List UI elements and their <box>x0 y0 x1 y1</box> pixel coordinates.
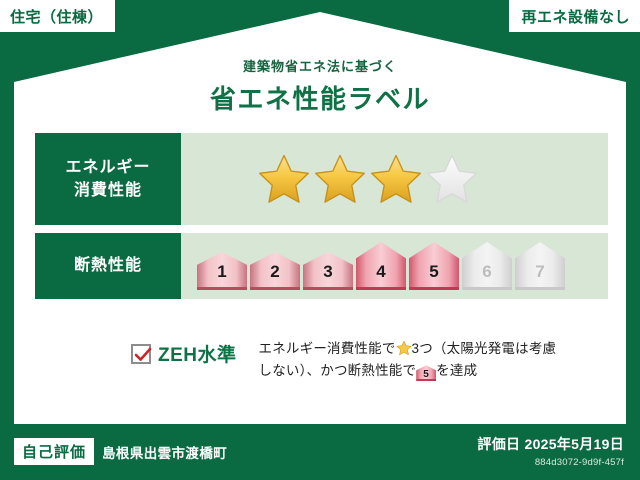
insulation-level-4-value: 4 <box>356 242 406 290</box>
energy-label-card: 住宅（住棟） 再エネ設備なし 建築物省エネ法に基づく 省エネ性能ラベル エネルギ… <box>0 0 640 480</box>
zeh-desc-part1: エネルギー消費性能で <box>259 341 396 356</box>
evaluation-type-badge: 自己評価 <box>14 438 94 465</box>
star-icon-empty-4 <box>425 153 479 205</box>
star-rating <box>181 153 479 205</box>
insulation-level-2-value: 2 <box>250 252 300 290</box>
title-subtitle: 建築物省エネ法に基づく <box>0 56 640 75</box>
evaluation-date: 評価日 2025年5月19日 <box>477 434 624 454</box>
footer-right-group: 評価日 2025年5月19日 884d3072-9d9f-457f <box>477 434 624 468</box>
star-icon-filled-3 <box>369 153 423 205</box>
insulation-level-inline-badge: 5 <box>416 365 436 381</box>
address-text: 島根県出雲市渡橋町 <box>102 442 227 462</box>
star-icon-inline <box>396 340 412 356</box>
energy-label-line1: エネルギー <box>65 156 150 179</box>
zeh-desc-part4: を達成 <box>436 363 477 378</box>
insulation-level-scale: 1 2 3 4 5 6 <box>181 242 565 290</box>
zeh-checkbox[interactable] <box>131 344 151 364</box>
performance-rows: エネルギー 消費性能 <box>35 133 608 307</box>
label-footer: 自己評価 島根県出雲市渡橋町 評価日 2025年5月19日 884d3072-9… <box>0 424 640 480</box>
insulation-performance-value: 1 2 3 4 5 6 <box>181 233 608 299</box>
insulation-level-6-value: 6 <box>462 242 512 290</box>
energy-performance-row: エネルギー 消費性能 <box>35 133 608 225</box>
insulation-level-3-value: 3 <box>303 252 353 290</box>
insulation-performance-label: 断熱性能 <box>35 233 181 299</box>
insulation-label-line1: 断熱性能 <box>74 254 142 277</box>
check-icon <box>134 346 152 364</box>
building-type-badge: 住宅（住棟） <box>0 0 115 32</box>
insulation-level-5: 5 <box>409 242 459 290</box>
footer-left-group: 自己評価 島根県出雲市渡橋町 <box>14 438 227 465</box>
insulation-level-4: 4 <box>356 242 406 290</box>
energy-performance-label: エネルギー 消費性能 <box>35 133 181 225</box>
renewable-badge: 再エネ設備なし <box>509 0 640 32</box>
insulation-level-3: 3 <box>303 252 353 290</box>
zeh-section: ZEH水準 エネルギー消費性能で3つ（太陽光発電は考慮しない）、かつ断熱性能で5… <box>35 330 608 383</box>
insulation-level-6: 6 <box>462 242 512 290</box>
star-icon-filled-2 <box>313 153 367 205</box>
zeh-description: エネルギー消費性能で3つ（太陽光発電は考慮しない）、かつ断熱性能で5を達成 <box>237 330 559 383</box>
insulation-level-7: 7 <box>515 242 565 290</box>
renewable-label: 再エネ設備なし <box>521 6 630 27</box>
zeh-mark: ZEH水準 <box>35 330 237 367</box>
zeh-label: ZEH水準 <box>158 340 237 367</box>
building-type-label: 住宅（住棟） <box>10 6 103 27</box>
label-title: 建築物省エネ法に基づく 省エネ性能ラベル <box>0 56 640 116</box>
zeh-desc-part2: 3つ（太陽光発電 <box>412 341 516 356</box>
insulation-level-7-value: 7 <box>515 242 565 290</box>
insulation-performance-row: 断熱性能 1 2 3 4 5 <box>35 233 608 299</box>
star-icon-filled-1 <box>257 153 311 205</box>
insulation-level-2: 2 <box>250 252 300 290</box>
title-heading: 省エネ性能ラベル <box>0 79 640 116</box>
energy-performance-value <box>181 133 608 225</box>
insulation-level-1-value: 1 <box>197 252 247 290</box>
insulation-level-5-value: 5 <box>409 242 459 290</box>
insulation-level-1: 1 <box>197 252 247 290</box>
energy-label-line2: 消費性能 <box>74 179 142 202</box>
evaluation-id: 884d3072-9d9f-457f <box>477 457 624 468</box>
